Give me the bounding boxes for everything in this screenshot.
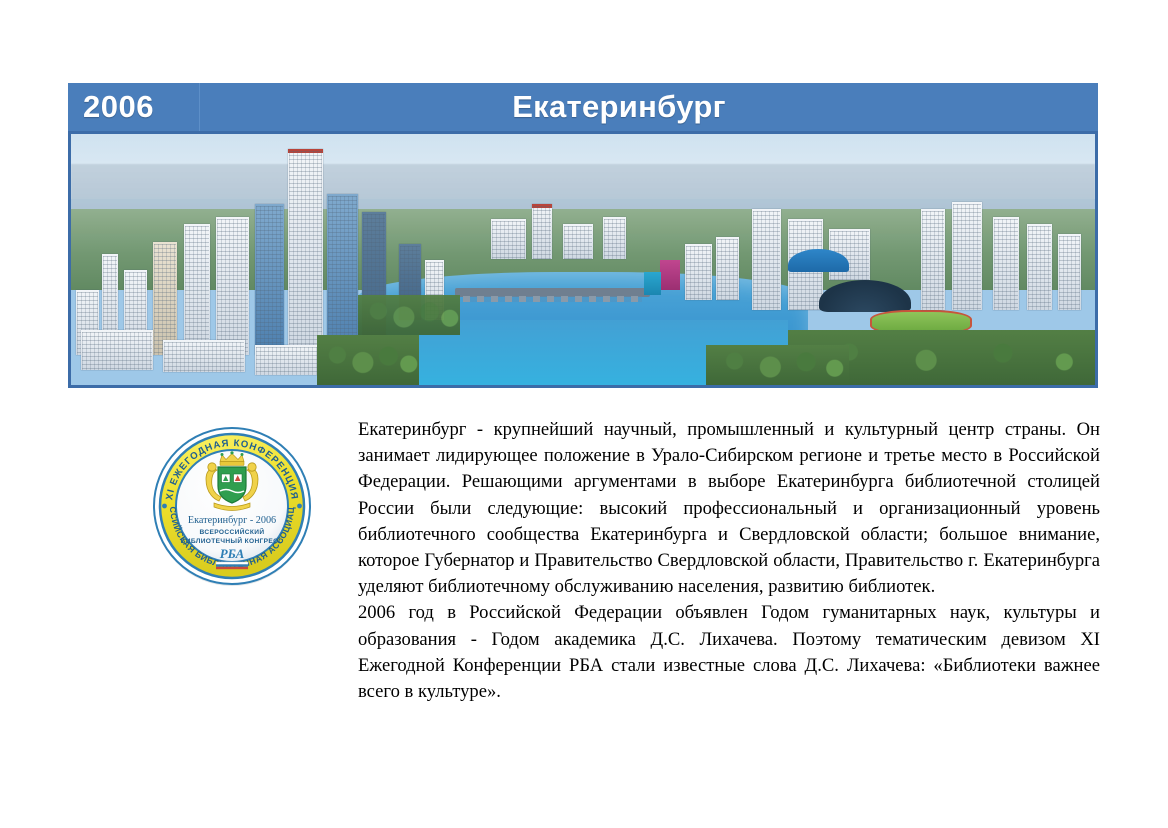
description-text-block: Екатеринбург - крупнейший научный, промы…	[358, 417, 1100, 705]
photo-building	[752, 209, 781, 309]
photo-building	[1027, 224, 1052, 309]
photo-trees	[706, 345, 849, 385]
emblem-center-line-2: ВСЕРОССИЙСКИЙ	[200, 527, 265, 536]
coat-shield	[218, 467, 246, 503]
photo-building	[255, 204, 284, 355]
emblem-tricolour-bar	[216, 562, 248, 569]
emblem-ring-dot	[162, 504, 167, 509]
photo-trees	[317, 335, 419, 385]
header-banner: 2006 Екатеринбург	[68, 83, 1098, 131]
photo-building	[184, 224, 211, 355]
paragraph-city-description: Екатеринбург - крупнейший научный, промы…	[358, 417, 1100, 600]
page-title: Екатеринбург	[200, 83, 1098, 131]
photo-building	[491, 219, 526, 259]
photo-bridge	[455, 288, 650, 297]
photo-blue-roof-building	[788, 249, 849, 272]
photo-building	[532, 204, 552, 259]
rba-congress-emblem: XI ЕЖЕГОДНАЯ КОНФЕРЕНЦИЯ РОССИЙСКАЯ БИБЛ…	[150, 424, 314, 588]
photo-building	[685, 244, 712, 299]
photo-building	[216, 217, 249, 355]
photo-building-cyan	[644, 272, 660, 295]
city-panorama-photo	[68, 131, 1098, 388]
photo-building-pink	[660, 260, 680, 290]
emblem-center-logo-rba: РБА	[220, 546, 245, 561]
header-year: 2006	[68, 83, 200, 131]
photo-highrise-tower	[288, 149, 323, 355]
photo-building	[1058, 234, 1081, 309]
emblem-center-line-1: Екатеринбург - 2006	[188, 515, 276, 526]
photo-canvas	[71, 134, 1095, 385]
photo-building	[993, 217, 1020, 310]
photo-building	[563, 224, 594, 259]
emblem-ring-dot	[297, 504, 302, 509]
photo-building	[921, 209, 946, 309]
emblem-center-line-3: БИБЛИОТЕЧНЫЙ КОНГРЕСС	[181, 536, 284, 545]
emblem-svg: XI ЕЖЕГОДНАЯ КОНФЕРЕНЦИЯ РОССИЙСКАЯ БИБЛ…	[150, 424, 314, 588]
photo-building	[153, 242, 178, 355]
photo-trees	[358, 295, 460, 335]
photo-tower-roof	[532, 204, 552, 208]
photo-building	[81, 330, 153, 370]
photo-building	[952, 202, 983, 310]
photo-building	[603, 217, 626, 260]
paragraph-year-motto: 2006 год в Российской Федерации объявлен…	[358, 600, 1100, 705]
photo-building	[327, 194, 358, 355]
photo-building	[163, 340, 245, 373]
photo-building	[716, 237, 739, 300]
photo-tower-roof	[288, 149, 323, 153]
slide-root: 2006 Екатеринбург	[0, 0, 1168, 828]
